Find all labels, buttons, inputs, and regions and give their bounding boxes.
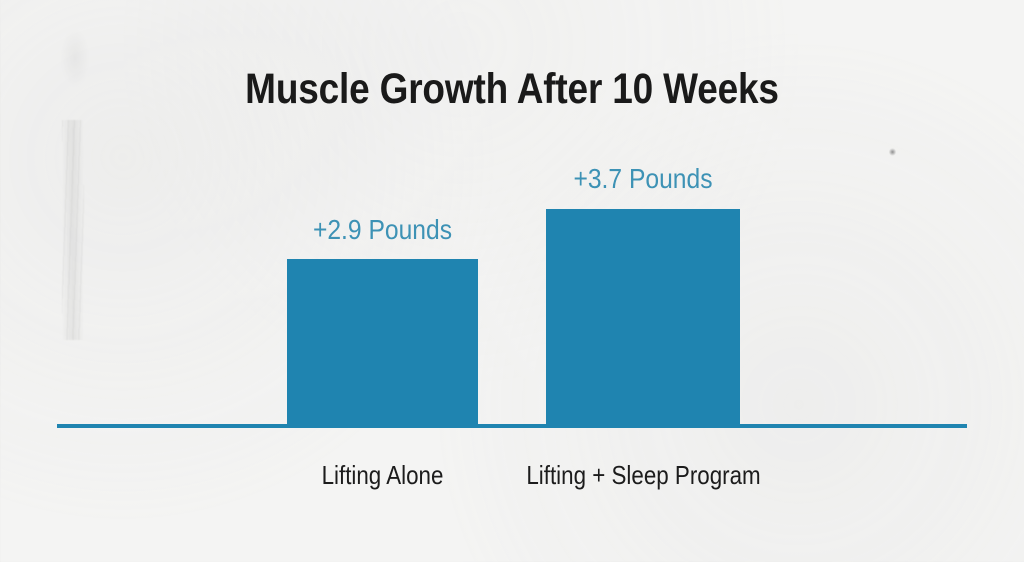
bar-value-label-lifting-alone: +2.9 Pounds — [294, 214, 471, 246]
category-label-lifting-alone: Lifting Alone — [279, 460, 486, 490]
chart-canvas: Muscle Growth After 10 Weeks +2.9 Pounds… — [0, 0, 1024, 562]
plot-area: +2.9 Pounds +3.7 Pounds Lifting Alone Li… — [0, 0, 1024, 562]
category-label-lifting-sleep-program: Lifting + Sleep Program — [514, 460, 773, 490]
bar-lifting-sleep-program — [546, 209, 740, 426]
x-axis-baseline — [57, 424, 967, 428]
bar-lifting-alone — [287, 259, 478, 426]
bar-value-label-lifting-sleep-program: +3.7 Pounds — [554, 163, 732, 195]
